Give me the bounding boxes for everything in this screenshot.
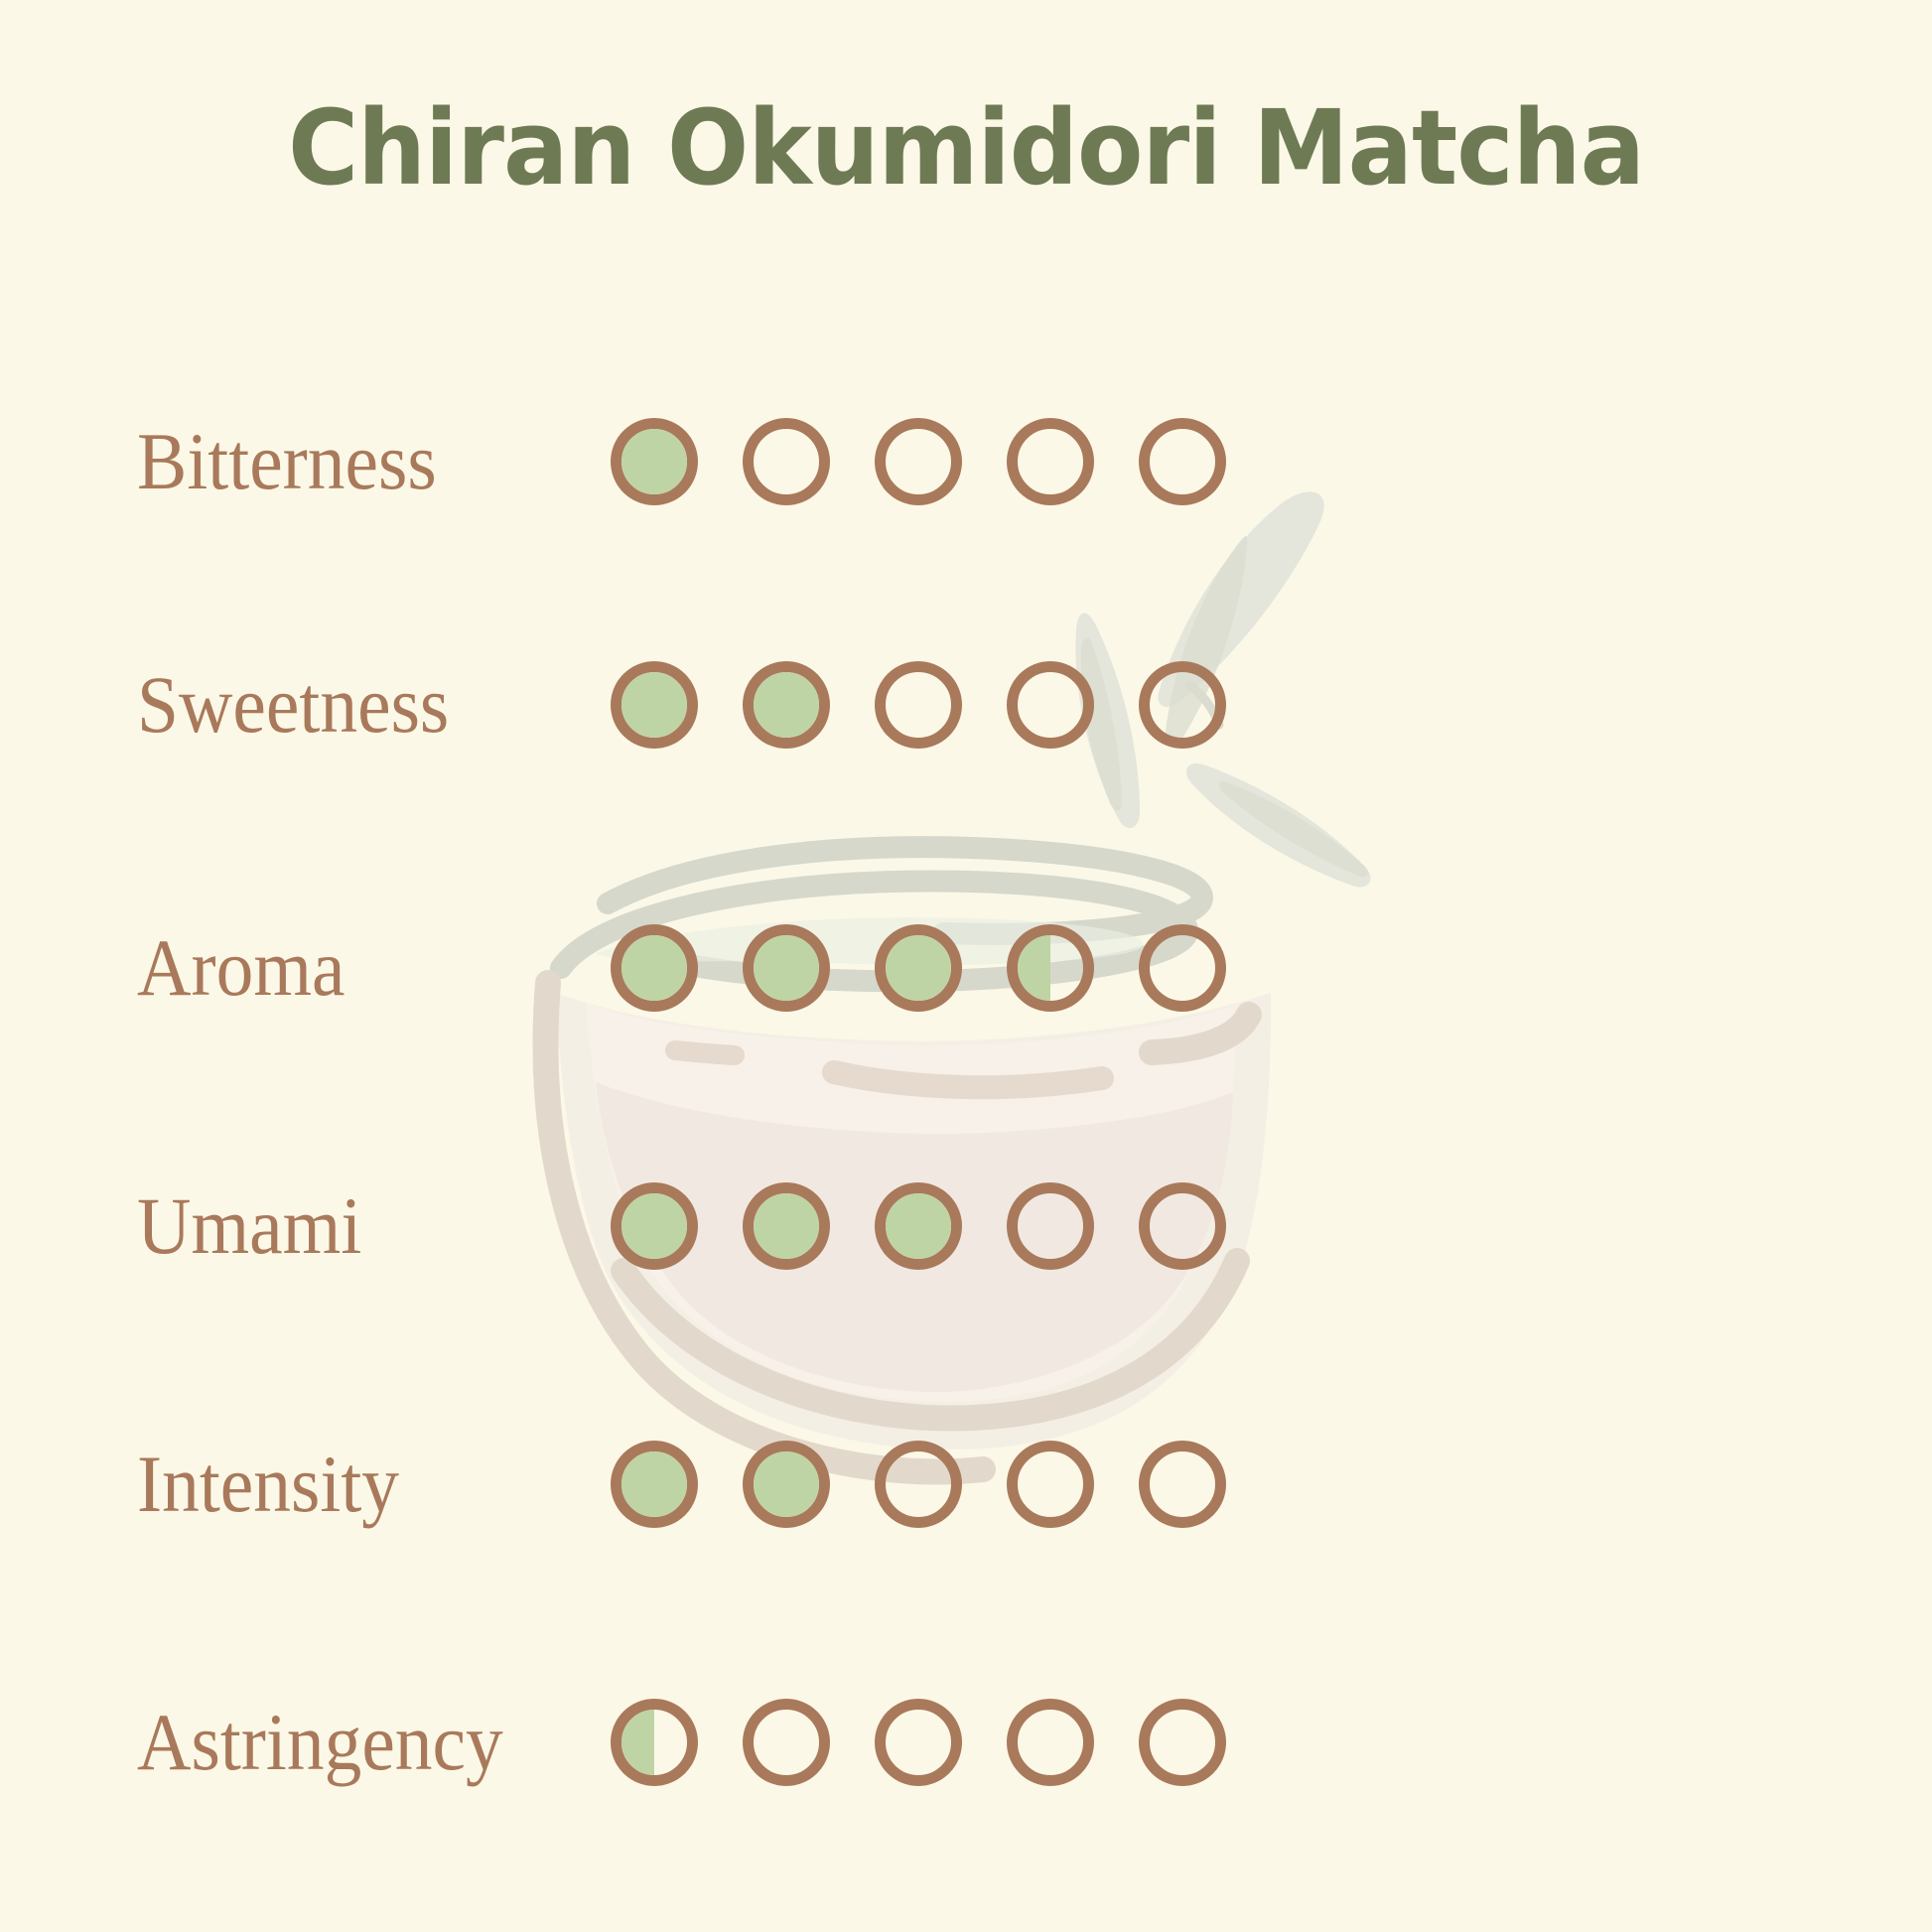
table-row: Sweetness — [0, 650, 1932, 759]
rating-dot[interactable] — [875, 924, 962, 1012]
rating-dot[interactable] — [743, 924, 830, 1012]
rating-dot[interactable] — [1139, 1182, 1226, 1270]
rating-dot[interactable] — [743, 661, 830, 749]
rating-dot[interactable] — [743, 418, 830, 505]
table-row: Aroma — [0, 913, 1932, 1023]
rating-dot[interactable] — [611, 661, 698, 749]
rating-scale-bitterness — [611, 418, 1226, 505]
rating-dot[interactable] — [1007, 418, 1094, 505]
row-label-astringency: Astringency — [0, 1702, 548, 1783]
page-title: Chiran Okumidori Matcha — [68, 91, 1864, 205]
rating-dot[interactable] — [743, 1182, 830, 1270]
rating-dot[interactable] — [611, 1699, 698, 1786]
rating-dot[interactable] — [1007, 1699, 1094, 1786]
rating-dot[interactable] — [611, 418, 698, 505]
row-label-bitterness: Bitterness — [0, 421, 548, 502]
rating-dot[interactable] — [743, 1699, 830, 1786]
rating-dot[interactable] — [875, 418, 962, 505]
rating-dot[interactable] — [875, 661, 962, 749]
rating-dot[interactable] — [1139, 924, 1226, 1012]
table-row: Astringency — [0, 1688, 1932, 1797]
rating-dot[interactable] — [1007, 924, 1094, 1012]
rating-dot[interactable] — [611, 924, 698, 1012]
rating-dot[interactable] — [1007, 1441, 1094, 1528]
rating-scale-intensity — [611, 1441, 1226, 1528]
rating-dot[interactable] — [875, 1182, 962, 1270]
rating-dot[interactable] — [611, 1182, 698, 1270]
rating-dot[interactable] — [1139, 418, 1226, 505]
row-label-sweetness: Sweetness — [0, 664, 548, 746]
table-row: Intensity — [0, 1430, 1932, 1539]
rating-dot[interactable] — [1139, 661, 1226, 749]
row-label-aroma: Aroma — [0, 927, 548, 1009]
table-row: Umami — [0, 1172, 1932, 1281]
rating-scale-umami — [611, 1182, 1226, 1270]
rating-scale-astringency — [611, 1699, 1226, 1786]
flavor-rating-rows: Bitterness Sweetness Aroma — [0, 0, 1932, 1932]
row-label-intensity: Intensity — [0, 1444, 548, 1525]
table-row: Bitterness — [0, 407, 1932, 516]
rating-dot[interactable] — [1007, 661, 1094, 749]
rating-scale-sweetness — [611, 661, 1226, 749]
rating-dot[interactable] — [875, 1699, 962, 1786]
rating-dot[interactable] — [743, 1441, 830, 1528]
row-label-umami: Umami — [0, 1185, 548, 1267]
rating-scale-aroma — [611, 924, 1226, 1012]
rating-dot[interactable] — [1139, 1441, 1226, 1528]
rating-dot[interactable] — [611, 1441, 698, 1528]
matcha-flavor-profile-card: Chiran Okumidori Matcha Bitterness Sweet… — [0, 0, 1932, 1932]
rating-dot[interactable] — [1139, 1699, 1226, 1786]
rating-dot[interactable] — [875, 1441, 962, 1528]
rating-dot[interactable] — [1007, 1182, 1094, 1270]
